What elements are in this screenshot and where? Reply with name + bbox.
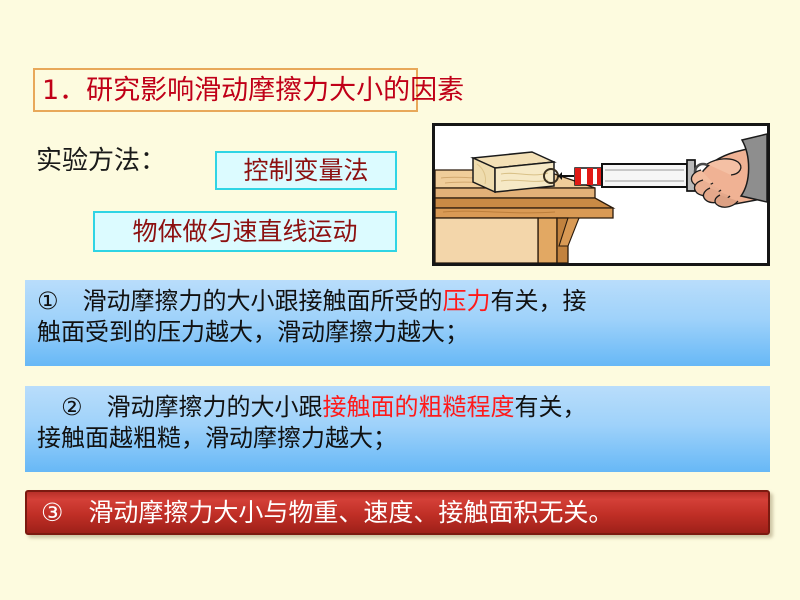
conclusion-1-line-2: 触面受到的压力越大，滑动摩擦力越大； (37, 317, 760, 348)
method-box-1-text: 控制变量法 (243, 158, 368, 183)
method-box-control-variable: 控制变量法 (215, 151, 397, 190)
method-box-uniform-motion: 物体做匀速直线运动 (93, 211, 397, 252)
conclusion-3-text: ③ 滑动摩擦力大小与物重、速度、接触面积无关。 (41, 500, 613, 525)
wooden-block (473, 152, 554, 192)
experiment-illustration-svg (435, 126, 767, 263)
friction-experiment-figure (432, 123, 770, 266)
conclusion-1-highlight: 压力 (443, 287, 491, 315)
conclusion-box-2: ② 滑动摩擦力的大小跟接触面的粗糙程度有关， 接触面越粗糙，滑动摩擦力越大； (25, 386, 770, 472)
slide-canvas: 1．研究影响滑动摩擦力大小的因素 实验方法： 控制变量法 物体做匀速直线运动 (0, 0, 800, 600)
conclusion-2-line1-before: ② 滑动摩擦力的大小跟 (37, 393, 323, 421)
conclusion-box-3: ③ 滑动摩擦力大小与物重、速度、接触面积无关。 (25, 490, 770, 535)
method-box-2-text: 物体做匀速直线运动 (132, 219, 357, 244)
page-title: 1．研究影响滑动摩擦力大小的因素 (35, 70, 416, 110)
conclusion-1-line-1: ① 滑动摩擦力的大小跟接触面所受的压力有关，接 (37, 286, 760, 317)
conclusion-2-line1-after: 有关， (515, 393, 587, 421)
conclusion-1-line1-before: ① 滑动摩擦力的大小跟接触面所受的 (37, 287, 443, 315)
conclusion-2-line-2: 接触面越粗糙，滑动摩擦力越大； (37, 423, 760, 454)
conclusion-2-line-1: ② 滑动摩擦力的大小跟接触面的粗糙程度有关， (37, 392, 760, 423)
conclusion-box-1: ① 滑动摩擦力的大小跟接触面所受的压力有关，接 触面受到的压力越大，滑动摩擦力越… (25, 280, 770, 366)
conclusion-2-highlight: 接触面的粗糙程度 (323, 393, 515, 421)
conclusion-1-line1-after: 有关，接 (491, 287, 587, 315)
method-label: 实验方法： (36, 148, 166, 174)
title-box: 1．研究影响滑动摩擦力大小的因素 (33, 68, 418, 112)
